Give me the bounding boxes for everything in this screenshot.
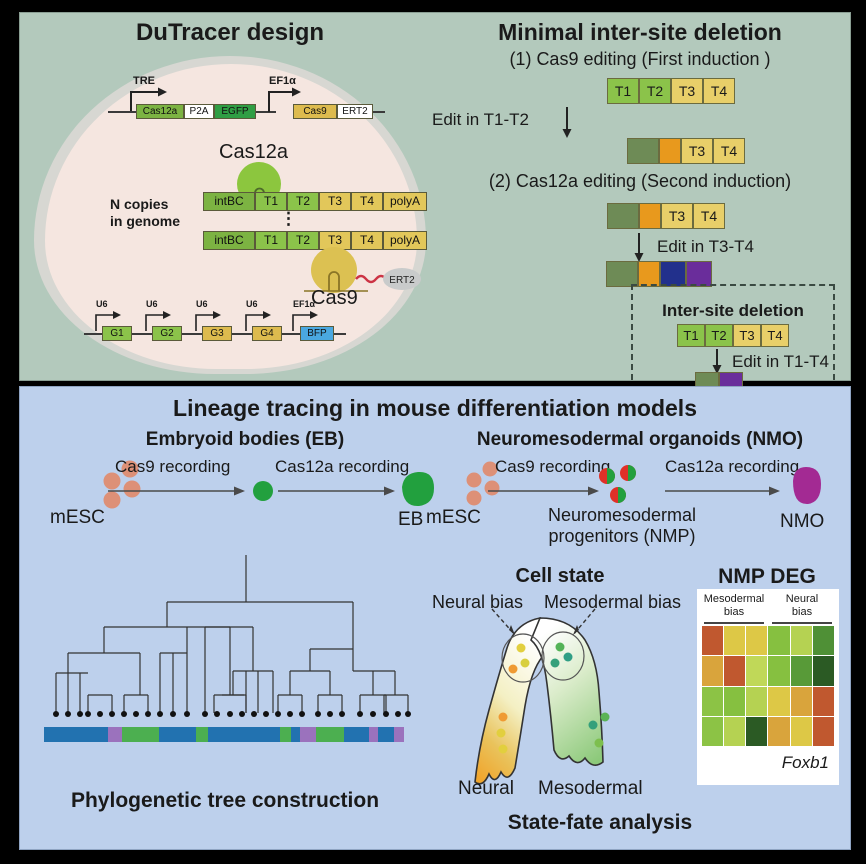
heatmap-cell	[724, 656, 745, 685]
cassette2-intbc: intBC	[203, 231, 255, 250]
heatmap-cell	[791, 687, 812, 716]
bottom-title: Lineage tracing in mouse differentiation…	[20, 395, 850, 422]
heatmap-cell	[813, 717, 834, 746]
barcode-segment	[208, 727, 280, 742]
figure-root: DuTracer design TRE Cas12a P2A EGFP EF1α…	[0, 0, 866, 864]
heatmap-cell	[768, 687, 789, 716]
nmp-cluster-icon	[595, 464, 645, 508]
organoid-cell-state-illustration	[445, 613, 695, 798]
cas12a-label: Cas12a	[219, 141, 288, 164]
heatmap-cell	[746, 656, 767, 685]
neural-bias-label: Neural bias	[432, 592, 523, 613]
guide-block-g4: G4	[252, 326, 282, 341]
barcode-segment	[196, 727, 209, 742]
heatmap-title: NMP DEG	[696, 565, 838, 589]
heatmap-cell	[724, 687, 745, 716]
step2-tile-1	[607, 203, 639, 229]
heatmap-gene-label: Foxb1	[697, 753, 829, 773]
eb-end-label: EB	[398, 509, 423, 531]
cassette1-intbc: intBC	[203, 192, 255, 211]
heatmap-cell	[702, 717, 723, 746]
heatmap-group-neural-line1: Neural	[769, 593, 835, 605]
inset-title: Inter-site deletion	[631, 301, 835, 321]
guide-promoter-u6-1: U6	[96, 299, 108, 309]
inset-tile-t3: T3	[733, 324, 761, 347]
cassette-ellipsis: ⋮	[280, 209, 297, 229]
step1-tile-t3: T3	[671, 78, 703, 104]
inset-tile-t1: T1	[677, 324, 705, 347]
eb-title: Embryoid bodies (EB)	[80, 429, 410, 451]
heatmap-cell	[791, 717, 812, 746]
barcode-segment	[122, 727, 160, 742]
cellstate-title: Cell state	[450, 565, 670, 588]
panel-lineage-tracing: Lineage tracing in mouse differentiation…	[19, 386, 851, 850]
barcode-segment	[378, 727, 395, 742]
heatmap-cell	[702, 656, 723, 685]
heatmap-cell	[813, 687, 834, 716]
svg-text:ERT2: ERT2	[389, 275, 415, 286]
barcode-segment	[316, 727, 344, 742]
cas9-label: Cas9	[311, 287, 358, 310]
barcode-segment	[300, 727, 317, 742]
step2-tile-t3: T3	[661, 203, 693, 229]
heatmap-cell	[746, 717, 767, 746]
phylogenetic-tree	[42, 555, 422, 725]
gene-block-cas12a: Cas12a	[136, 104, 184, 119]
heatmap-cell	[702, 626, 723, 655]
guide-promoter-u6-3: U6	[196, 299, 208, 309]
heatmap-group-neural-line2: bias	[769, 606, 835, 618]
statefate-caption: State-fate analysis	[450, 811, 750, 835]
heatmap-cell	[702, 687, 723, 716]
n-copies-line1: N copies	[110, 196, 168, 212]
barcode-segment	[44, 727, 108, 742]
barcode-segment	[394, 727, 404, 742]
tree-caption: Phylogenetic tree construction	[30, 789, 420, 813]
barcode-segment	[291, 727, 299, 742]
barcode-segment	[280, 727, 291, 742]
barcode-segment	[108, 727, 122, 742]
guide-promoter-u6-4: U6	[246, 299, 258, 309]
result1-tile-t3: T3	[681, 138, 713, 164]
result1-tile-t4: T4	[713, 138, 745, 164]
gene-block-cas9: Cas9	[293, 104, 337, 119]
result1-tile-2	[659, 138, 681, 164]
promoter-ef1a-label: EF1α	[269, 75, 296, 87]
guide-block-g2: G2	[152, 326, 182, 341]
heatmap-cell	[724, 626, 745, 655]
neural-fate-label: Neural	[458, 778, 514, 800]
heatmap-group-rule-right	[772, 622, 832, 624]
inset-tile-t2: T2	[705, 324, 733, 347]
heatmap-group-mesodermal-line1: Mesodermal	[701, 593, 767, 605]
heatmap-cell	[768, 626, 789, 655]
barcode-segment	[344, 727, 369, 742]
result1-tile-1	[627, 138, 659, 164]
nmo-arrow1-icon	[488, 485, 602, 497]
mesodermal-bias-label: Mesodermal bias	[544, 592, 681, 613]
heatmap-cell	[791, 626, 812, 655]
heatmap-cell	[813, 656, 834, 685]
n-copies-line2: in genome	[110, 213, 180, 229]
heatmap-cell	[724, 717, 745, 746]
eb-arrow1-label: Cas9 recording	[115, 457, 230, 477]
gene-block-ert2: ERT2	[337, 104, 373, 119]
construct2-tail	[373, 111, 385, 113]
edit-t3-t4-label: Edit in T3-T4	[657, 237, 754, 257]
eb-arrow1-icon	[108, 485, 248, 497]
edit2-arrow-icon	[632, 233, 646, 263]
heatmap-group-rule-left	[704, 622, 764, 624]
guide-block-bfp: BFP	[300, 326, 334, 341]
edit1-arrow-icon	[560, 107, 574, 139]
panel-dutracer-design: DuTracer design TRE Cas12a P2A EGFP EF1α…	[19, 12, 851, 381]
nmo-arrow2-label: Cas12a recording	[665, 457, 799, 477]
construct1-backbone	[108, 111, 136, 113]
nmo-end-label: NMO	[780, 511, 824, 533]
heatmap-cell	[746, 687, 767, 716]
nmo-start-label: mESC	[426, 507, 481, 529]
guide-promoter-u6-2: U6	[146, 299, 158, 309]
heatmap-group-mesodermal-line2: bias	[701, 606, 767, 618]
nmo-arrow1-label: Cas9 recording	[495, 457, 610, 477]
guide-block-g1: G1	[102, 326, 132, 341]
clone-barcode-strip	[44, 727, 404, 742]
eb-start-label: mESC	[50, 507, 105, 529]
eb-arrow2-icon	[278, 485, 398, 497]
top-right-title: Minimal inter-site deletion	[440, 19, 840, 46]
step2-tile-2	[639, 203, 661, 229]
step1-tile-t2: T2	[639, 78, 671, 104]
barcode-segment	[159, 727, 195, 742]
nmo-title: Neuromesodermal organoids (NMO)	[440, 429, 840, 451]
barcode-segment	[369, 727, 377, 742]
guide-block-g3: G3	[202, 326, 232, 341]
heatmap-cell	[746, 626, 767, 655]
heatmap-cell	[768, 656, 789, 685]
edit-t1-t2-label: Edit in T1-T2	[432, 110, 529, 130]
heatmap-cell	[768, 717, 789, 746]
nmo-arrow2-icon	[665, 485, 783, 497]
heatmap-card: Mesodermal bias Neural bias Foxb1	[697, 589, 839, 785]
gene-block-egfp: EGFP	[214, 104, 256, 119]
heatmap-grid	[702, 626, 834, 746]
step1-tile-t4: T4	[703, 78, 735, 104]
step2-tile-t4: T4	[693, 203, 725, 229]
cassette1-t3: T3	[319, 192, 351, 211]
step2-label: (2) Cas12a editing (Second induction)	[432, 171, 848, 192]
cassette1-polya: polyA	[383, 192, 427, 211]
inset-tile-t4: T4	[761, 324, 789, 347]
nmo-organoid-icon	[785, 465, 825, 511]
step1-label: (1) Cas9 editing (First induction )	[440, 49, 840, 70]
nmp-label-line1: Neuromesodermal	[512, 505, 732, 526]
eb-organoid-icon	[396, 469, 438, 511]
heatmap-cell	[813, 626, 834, 655]
cassette2-t1: T1	[255, 231, 287, 250]
guide-promoter-ef1a: EF1α	[293, 299, 315, 309]
heatmap-cell	[791, 656, 812, 685]
step1-tile-t1: T1	[607, 78, 639, 104]
inset-edit-label: Edit in T1-T4	[732, 352, 829, 372]
nmp-label-line2: progenitors (NMP)	[512, 526, 732, 547]
mesodermal-fate-label: Mesodermal	[538, 778, 643, 800]
eb-arrow2-label: Cas12a recording	[275, 457, 409, 477]
cassette1-t4: T4	[351, 192, 383, 211]
eb-intermediate-icon	[250, 479, 278, 505]
gene-block-p2a: P2A	[184, 104, 214, 119]
promoter-tre-label: TRE	[133, 75, 155, 87]
top-left-title: DuTracer design	[30, 19, 430, 47]
